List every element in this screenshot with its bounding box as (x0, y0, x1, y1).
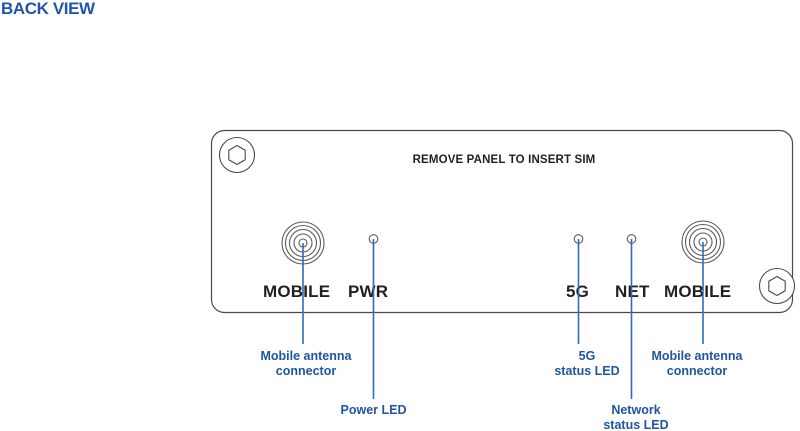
caption-5g-line1: 5G (579, 349, 596, 363)
caption-power-led: Power LED (341, 403, 407, 417)
silk-label-5g: 5G (566, 282, 589, 301)
caption-mobile-right-line2: connector (667, 364, 728, 378)
page-title: BACK VIEW (1, 0, 96, 18)
silk-label-net: NET (615, 282, 650, 301)
silk-label-pwr: PWR (348, 282, 388, 301)
caption-5g-line2: status LED (554, 364, 619, 378)
caption-network-line2: status LED (603, 418, 668, 431)
silk-label-mobile-right: MOBILE (664, 282, 731, 301)
top-left-screw (220, 138, 255, 173)
caption-mobile-left-line1: Mobile antenna (261, 349, 353, 363)
caption-mobile-left-line2: connector (276, 364, 337, 378)
back-view-diagram: BACK VIEW REMOVE PANEL TO INSERT SIM MOB… (0, 0, 800, 431)
panel-instruction-text: REMOVE PANEL TO INSERT SIM (413, 154, 596, 166)
caption-mobile-right-line1: Mobile antenna (652, 349, 744, 363)
caption-network-line1: Network (611, 403, 660, 417)
bottom-right-screw (760, 269, 795, 304)
silk-label-mobile-left: MOBILE (263, 282, 330, 301)
